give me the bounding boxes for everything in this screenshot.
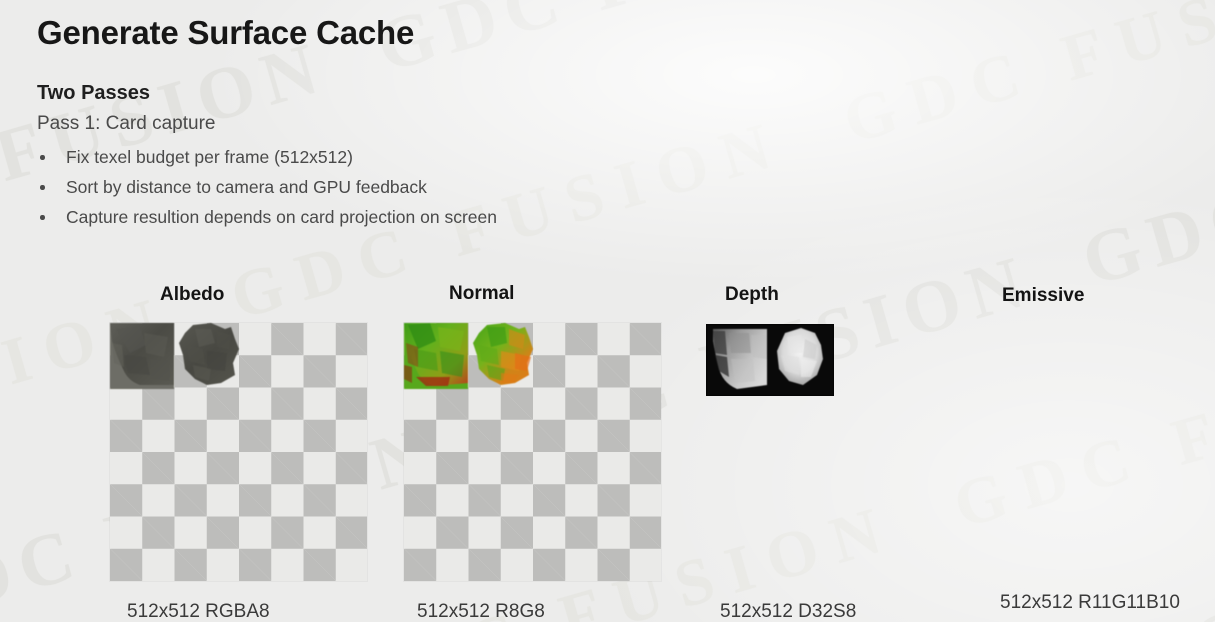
slide-canvas: GDC FUSION GDC FUSION GDC FUSION FUSION … bbox=[0, 0, 1215, 622]
albedo-card-tile-2 bbox=[177, 323, 241, 389]
column-title-emissive: Emissive bbox=[1002, 285, 1084, 307]
column-caption-depth: 512x512 D32S8 bbox=[720, 601, 856, 622]
column-caption-albedo: 512x512 RGBA8 bbox=[127, 601, 270, 622]
column-title-normal: Normal bbox=[449, 283, 514, 305]
bullet-list: Fix texel budget per frame (512x512) Sor… bbox=[37, 142, 497, 232]
depth-card-tiles bbox=[707, 325, 833, 395]
list-item: Sort by distance to camera and GPU feedb… bbox=[37, 172, 497, 202]
bullet-dot-icon bbox=[40, 215, 45, 220]
list-item-label: Fix texel budget per frame (512x512) bbox=[66, 147, 353, 167]
list-item: Fix texel budget per frame (512x512) bbox=[37, 142, 497, 172]
section-subheading: Two Passes bbox=[37, 82, 150, 105]
column-caption-emissive: 512x512 R11G11B10 bbox=[1000, 592, 1180, 614]
page-title: Generate Surface Cache bbox=[37, 14, 414, 52]
albedo-card-tile-1 bbox=[110, 323, 174, 389]
depth-panel bbox=[707, 325, 833, 395]
column-caption-normal: 512x512 R8G8 bbox=[417, 601, 545, 622]
bullet-dot-icon bbox=[40, 155, 45, 160]
column-title-albedo: Albedo bbox=[160, 284, 224, 306]
column-title-depth: Depth bbox=[725, 284, 779, 306]
pass-label: Pass 1: Card capture bbox=[37, 113, 215, 135]
normal-card-tile-1 bbox=[404, 323, 468, 389]
normal-card-tile-2 bbox=[471, 323, 535, 389]
list-item-label: Sort by distance to camera and GPU feedb… bbox=[66, 177, 427, 197]
bullet-dot-icon bbox=[40, 185, 45, 190]
list-item: Capture resultion depends on card projec… bbox=[37, 202, 497, 232]
list-item-label: Capture resultion depends on card projec… bbox=[66, 207, 497, 227]
